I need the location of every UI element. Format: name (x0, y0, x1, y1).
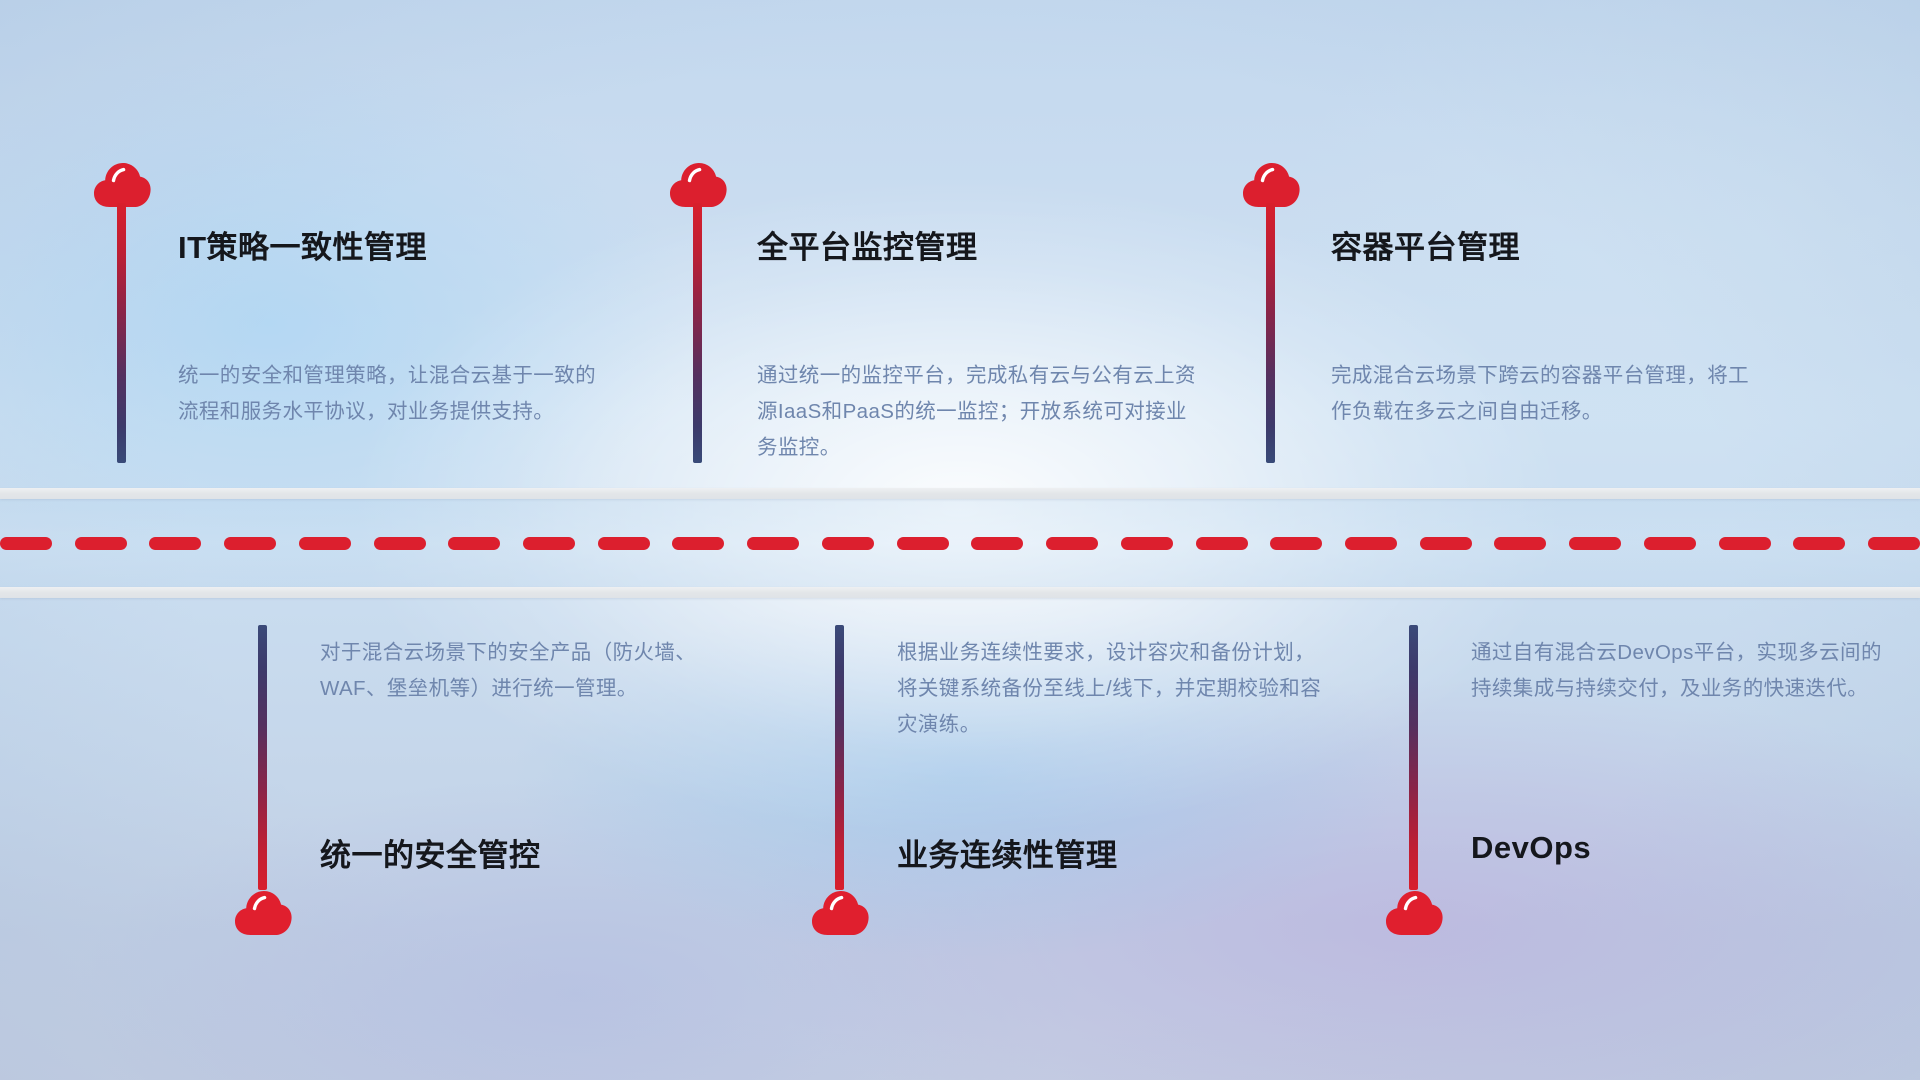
road-edge-bottom (0, 587, 1920, 598)
feature-title: 统一的安全管控 (320, 830, 541, 875)
road-dash (448, 537, 500, 550)
road-dash (1793, 537, 1845, 550)
road-dash (0, 537, 52, 550)
road-dash (598, 537, 650, 550)
road-dash (523, 537, 575, 550)
road-dash (1719, 537, 1771, 550)
road-dash (149, 537, 201, 550)
feature-description: 对于混合云场景下的安全产品（防火墙、WAF、堡垒机等）进行统一管理。 (320, 635, 740, 707)
road-dash (1196, 537, 1248, 550)
feature-title: 容器平台管理 (1331, 222, 1520, 267)
road-divider (0, 488, 1920, 598)
feature-description: 完成混合云场景下跨云的容器平台管理，将工作负载在多云之间自由迁移。 (1331, 358, 1751, 430)
road-dash (1569, 537, 1621, 550)
feature-title: DevOps (1471, 830, 1591, 866)
feature-description: 通过自有混合云DevOps平台，实现多云间的持续集成与持续交付，及业务的快速迭代… (1471, 635, 1891, 707)
feature-description: 通过统一的监控平台，完成私有云与公有云上资源IaaS和PaaS的统一监控；开放系… (757, 358, 1197, 466)
feature-title: 全平台监控管理 (757, 222, 978, 267)
stem-connector (258, 625, 267, 890)
road-dash (822, 537, 874, 550)
stem-connector (693, 203, 702, 463)
road-dash (1345, 537, 1397, 550)
feature-description: 根据业务连续性要求，设计容灾和备份计划，将关键系统备份至线上/线下，并定期校验和… (897, 635, 1322, 743)
road-dash (75, 537, 127, 550)
road-dash (1046, 537, 1098, 550)
road-dash (374, 537, 426, 550)
cloud-icon (667, 160, 729, 208)
road-dash (1121, 537, 1173, 550)
road-dash (1494, 537, 1546, 550)
cloud-icon (1240, 160, 1302, 208)
feature-title: IT策略一致性管理 (178, 222, 427, 267)
feature-title: 业务连续性管理 (897, 830, 1118, 875)
stem-connector (835, 625, 844, 890)
road-dashed-centerline (0, 536, 1920, 550)
stem-connector (1409, 625, 1418, 890)
road-dash (224, 537, 276, 550)
road-dash (299, 537, 351, 550)
road-dash (1420, 537, 1472, 550)
road-dash (897, 537, 949, 550)
stem-connector (1266, 203, 1275, 463)
feature-description: 统一的安全和管理策略，让混合云基于一致的流程和服务水平协议，对业务提供支持。 (178, 358, 608, 430)
cloud-icon (91, 160, 153, 208)
road-dash (1270, 537, 1322, 550)
road-dash (672, 537, 724, 550)
road-edge-top (0, 488, 1920, 499)
road-dash (1868, 537, 1920, 550)
cloud-icon (232, 888, 294, 936)
stem-connector (117, 203, 126, 463)
road-dash (971, 537, 1023, 550)
road-dash (1644, 537, 1696, 550)
cloud-icon (809, 888, 871, 936)
road-dash (747, 537, 799, 550)
cloud-icon (1383, 888, 1445, 936)
